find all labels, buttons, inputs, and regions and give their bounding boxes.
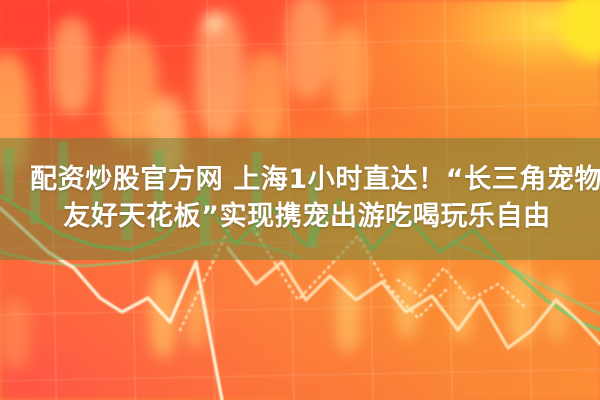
headline-line-1: 配资炒股官方网 上海1小时直达！“长三角宠物 (30, 165, 600, 196)
promo-banner: 配资炒股官方网 上海1小时直达！“长三角宠物 友好天花板”实现携宠出游吃喝玩乐自… (0, 0, 600, 400)
headline-overlay-band: 配资炒股官方网 上海1小时直达！“长三角宠物 友好天花板”实现携宠出游吃喝玩乐自… (0, 138, 600, 260)
dotted-trend-line-2 (398, 268, 524, 306)
headline-line-2: 友好天花板”实现携宠出游吃喝玩乐自由 (63, 202, 551, 233)
